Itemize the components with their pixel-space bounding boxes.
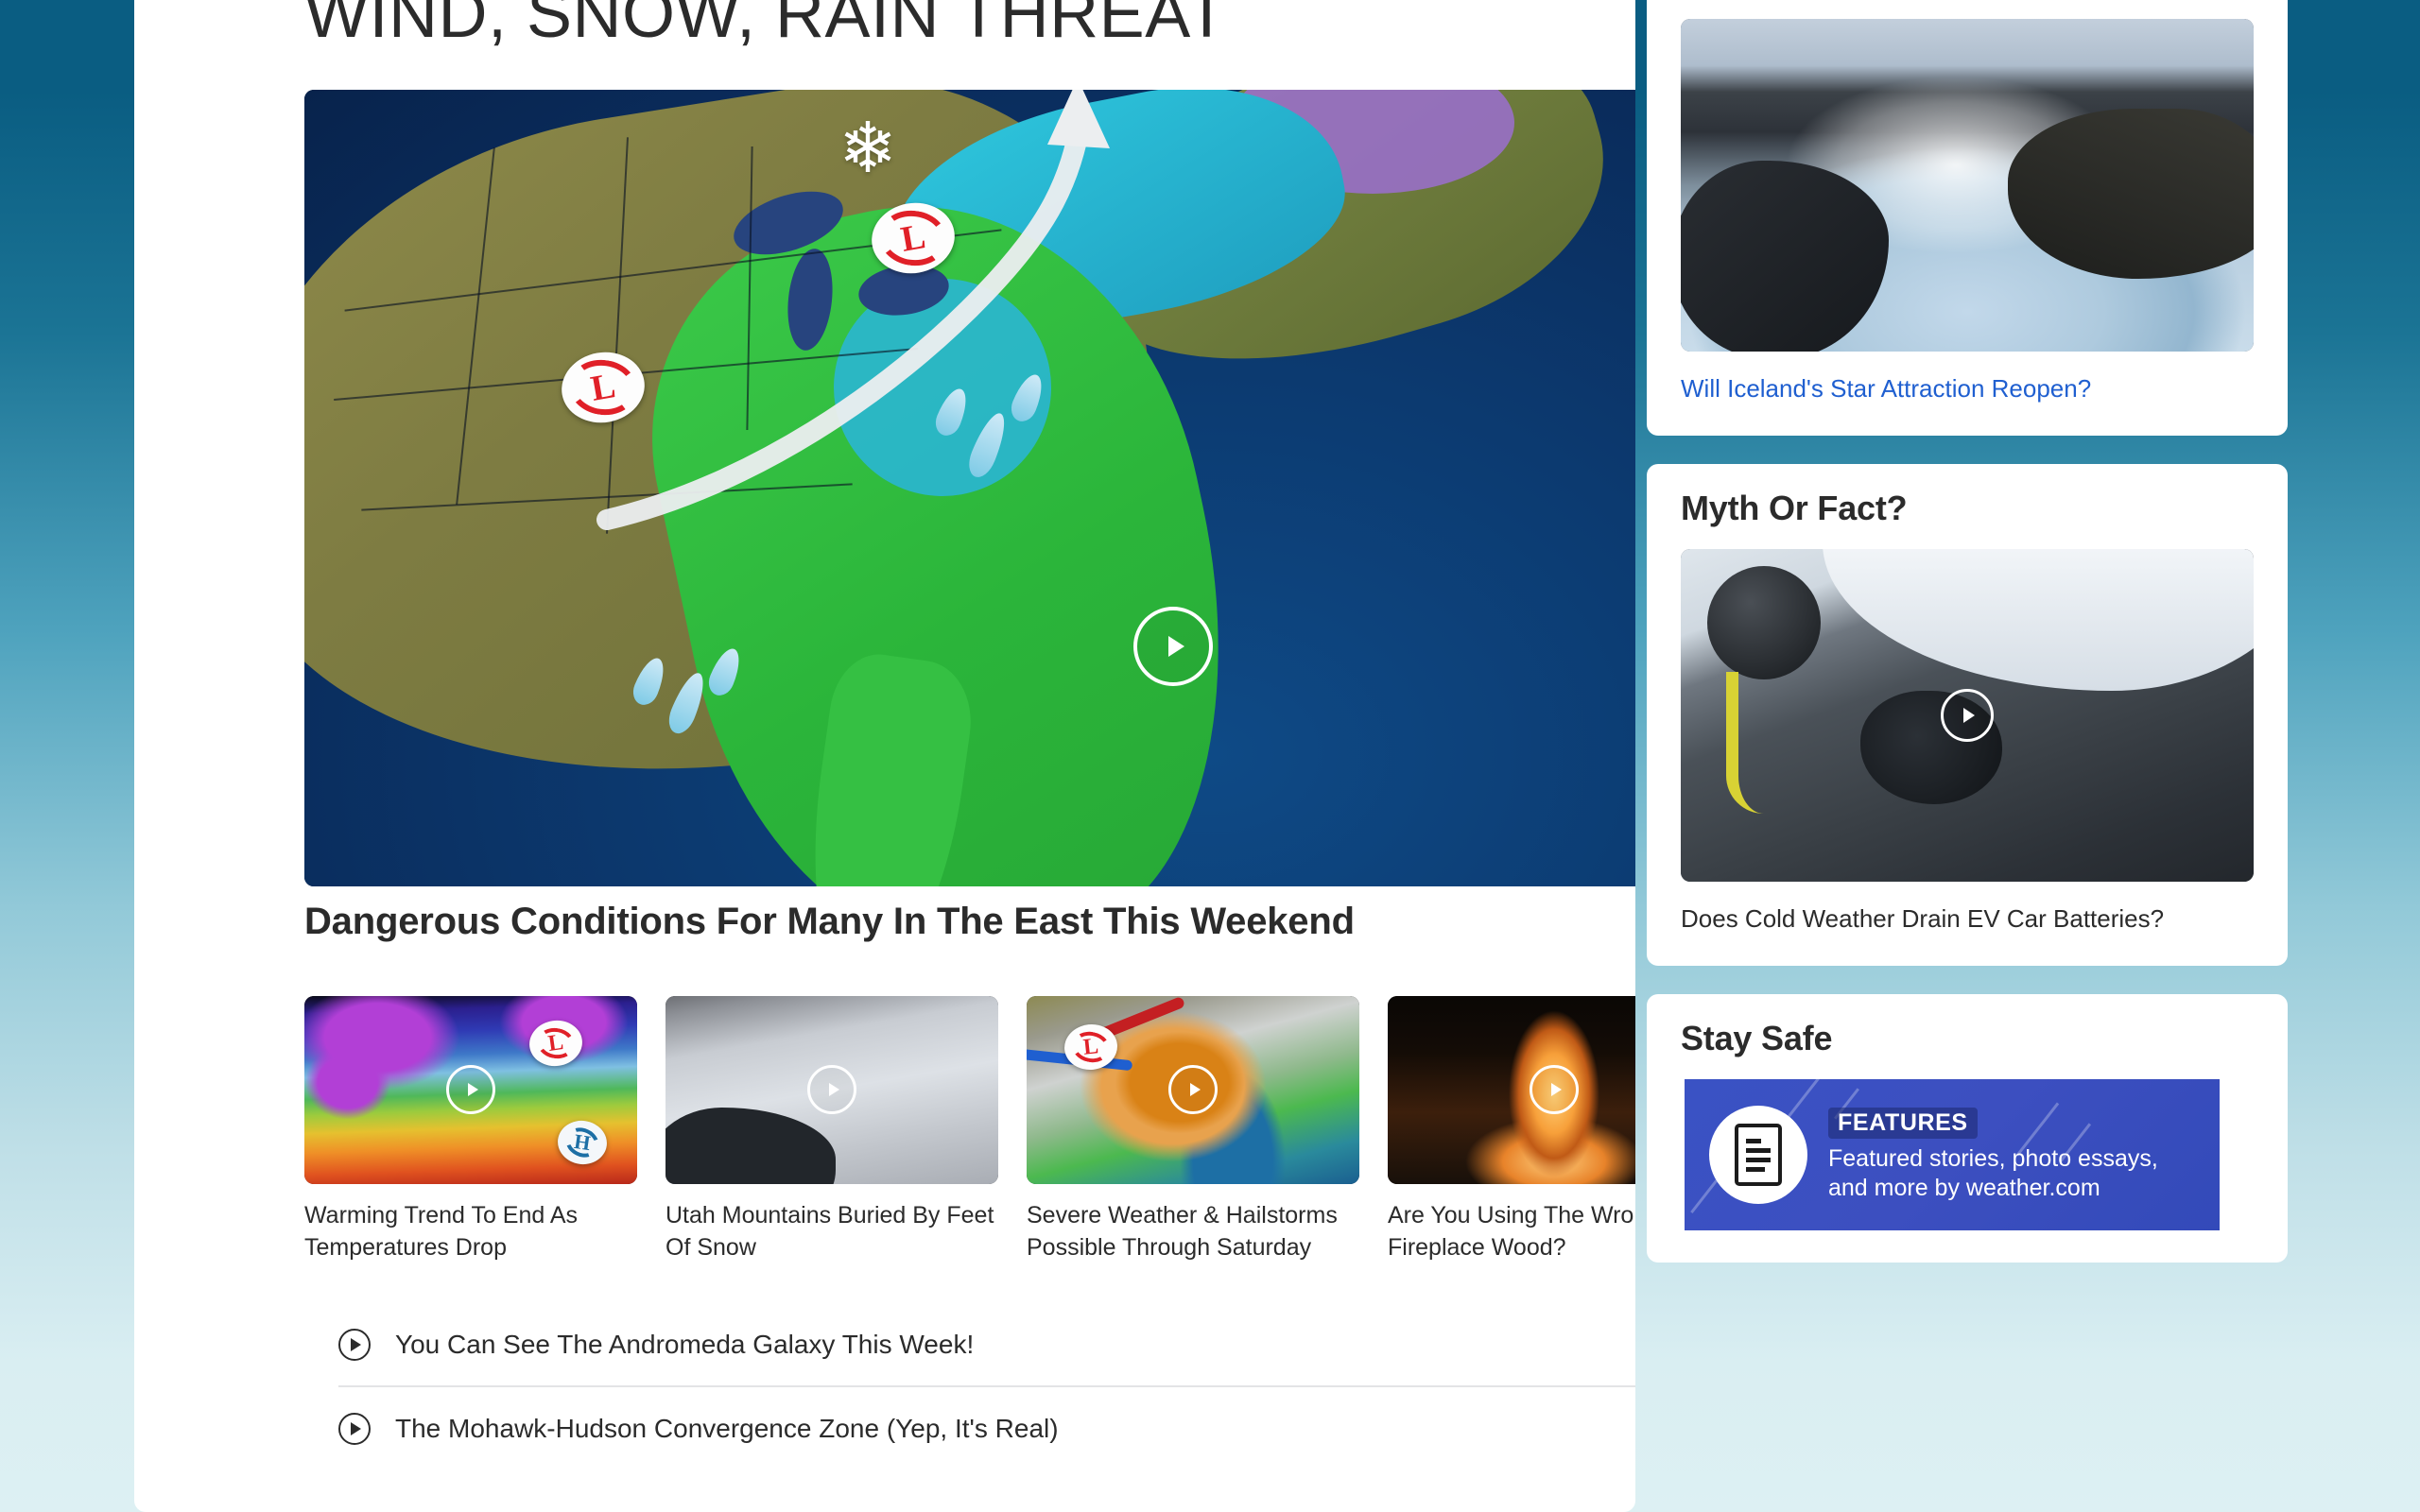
document-icon bbox=[1709, 1106, 1807, 1204]
hero-video-thumbnail[interactable]: ❄ L L bbox=[304, 90, 1635, 886]
sidebar-card-caption[interactable]: Does Cold Weather Drain EV Car Batteries… bbox=[1681, 904, 2254, 934]
play-icon[interactable] bbox=[1530, 1065, 1579, 1114]
thumbnail-caption[interactable]: Severe Weather & Hailstorms Possible Thr… bbox=[1027, 1199, 1359, 1263]
features-promo-banner[interactable]: FEATURES Featured stories, photo essays,… bbox=[1685, 1079, 2220, 1230]
sidebar-card-blue-lagoon: Fate Of The Blue Lagoon Will Iceland's S… bbox=[1647, 0, 2288, 436]
list-item[interactable]: You Can See The Andromeda Galaxy This We… bbox=[338, 1304, 1635, 1387]
features-subtext: Featured stories, photo essays, and more… bbox=[1828, 1144, 2159, 1202]
play-icon[interactable] bbox=[1168, 1065, 1218, 1114]
thumbnail-media[interactable] bbox=[665, 996, 998, 1184]
thumbnail-card[interactable]: Are You Using The Wrong Fireplace Wood? bbox=[1388, 996, 1635, 1263]
play-icon[interactable] bbox=[338, 1413, 371, 1445]
list-item[interactable]: The Mohawk-Hudson Convergence Zone (Yep,… bbox=[338, 1387, 1635, 1470]
thumbnail-caption[interactable]: Are You Using The Wrong Fireplace Wood? bbox=[1388, 1199, 1635, 1263]
list-item-label[interactable]: The Mohawk-Hudson Convergence Zone (Yep,… bbox=[395, 1414, 1059, 1444]
play-icon[interactable] bbox=[1941, 689, 1994, 742]
features-banner-text: FEATURES Featured stories, photo essays,… bbox=[1828, 1108, 2159, 1202]
section-subhead[interactable]: Dangerous Conditions For Many In The Eas… bbox=[304, 901, 1355, 943]
low-pressure-ring bbox=[875, 206, 950, 269]
features-kicker: FEATURES bbox=[1828, 1108, 1978, 1139]
blue-lagoon-photo[interactable] bbox=[1681, 19, 2254, 352]
thumbnail-card[interactable]: Utah Mountains Buried By Feet Of Snow bbox=[665, 996, 998, 1263]
sidebar-card-title: Stay Safe bbox=[1681, 1019, 2254, 1058]
thumbnail-media[interactable]: L H bbox=[304, 996, 637, 1184]
list-item-label[interactable]: You Can See The Andromeda Galaxy This We… bbox=[395, 1330, 974, 1360]
thumbnail-caption[interactable]: Utah Mountains Buried By Feet Of Snow bbox=[665, 1199, 998, 1263]
sidebar: Fate Of The Blue Lagoon Will Iceland's S… bbox=[1647, 0, 2288, 1263]
main-content-panel: TOP STORY WIND, SNOW, RAIN THREAT bbox=[134, 0, 1635, 1512]
sidebar-card-link[interactable]: Will Iceland's Star Attraction Reopen? bbox=[1681, 374, 2254, 404]
sidebar-card-title: Myth Or Fact? bbox=[1681, 489, 2254, 528]
low-pressure-ring bbox=[565, 355, 640, 419]
low-pressure-ring bbox=[1069, 1028, 1113, 1066]
thumbnail-caption[interactable]: Warming Trend To End As Temperatures Dro… bbox=[304, 1199, 637, 1263]
fireplace-fire-image bbox=[1388, 996, 1635, 1184]
snowflake-icon: ❄ bbox=[838, 113, 897, 183]
play-icon[interactable] bbox=[446, 1065, 495, 1114]
ev-charging-photo[interactable] bbox=[1681, 549, 2254, 882]
thumbnail-row: L H Warming Trend To End As Temperatures… bbox=[304, 996, 1635, 1263]
thumbnail-media[interactable] bbox=[1388, 996, 1635, 1184]
decorative-streak bbox=[1690, 1177, 1720, 1213]
play-icon[interactable] bbox=[807, 1065, 856, 1114]
low-pressure-ring bbox=[535, 1025, 578, 1061]
article-link-list: You Can See The Andromeda Galaxy This We… bbox=[338, 1304, 1635, 1470]
thumbnail-media[interactable]: L bbox=[1027, 996, 1359, 1184]
thumbnail-card[interactable]: L H Warming Trend To End As Temperatures… bbox=[304, 996, 637, 1263]
play-icon[interactable] bbox=[338, 1329, 371, 1361]
charger-cable-shape bbox=[1726, 672, 1781, 814]
page-title[interactable]: WIND, SNOW, RAIN THREAT bbox=[304, 0, 1228, 53]
high-pressure-ring bbox=[561, 1123, 604, 1163]
document-sheet-glyph bbox=[1735, 1124, 1782, 1186]
sidebar-card-stay-safe: Stay Safe FEATURES Featured stories, pho… bbox=[1647, 994, 2288, 1263]
sidebar-card-myth-or-fact: Myth Or Fact? Does Cold Weather Drain EV… bbox=[1647, 464, 2288, 966]
play-icon[interactable] bbox=[1133, 607, 1213, 686]
storm-track-arrow bbox=[304, 90, 1635, 886]
charger-plug-shape bbox=[1707, 566, 1821, 679]
thumbnail-card[interactable]: L Severe Weather & Hailstorms Possible T… bbox=[1027, 996, 1359, 1263]
lava-rock-left bbox=[1681, 161, 1889, 352]
